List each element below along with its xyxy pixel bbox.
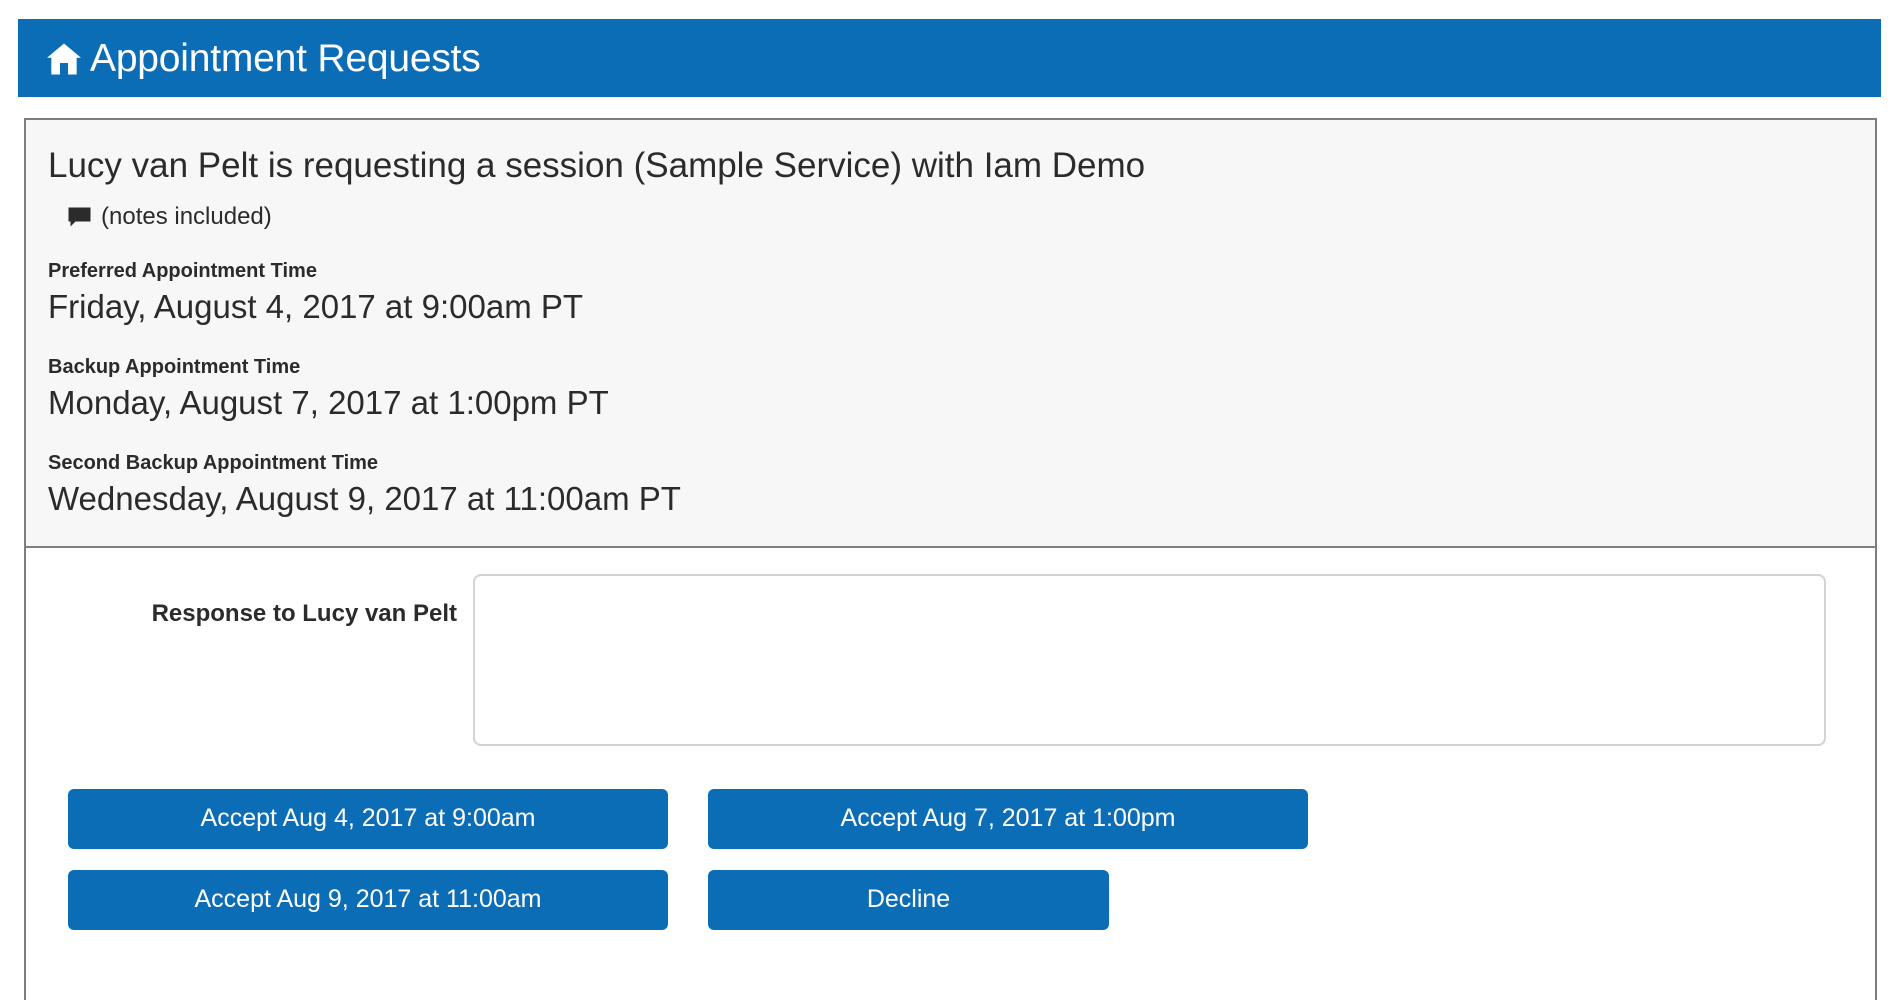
backup-time-block: Backup Appointment Time Monday, August 7… [26,355,1875,423]
accept-preferred-button[interactable]: Accept Aug 4, 2017 at 9:00am [68,789,668,849]
accept-second-backup-button[interactable]: Accept Aug 9, 2017 at 11:00am [68,870,668,930]
response-label: Response to Lucy van Pelt [26,574,473,629]
comment-icon [68,207,91,227]
page-header: Appointment Requests [18,19,1881,97]
home-icon[interactable] [44,42,84,76]
action-buttons-row-1: Accept Aug 4, 2017 at 9:00am Accept Aug … [68,789,1875,849]
response-form: Response to Lucy van Pelt Accept Aug 4, … [26,548,1875,930]
notes-included-label: (notes included) [101,205,272,229]
notes-indicator: (notes included) [26,205,1875,229]
second-backup-time-block: Second Backup Appointment Time Wednesday… [26,451,1875,519]
action-buttons: Accept Aug 4, 2017 at 9:00am Accept Aug … [26,789,1875,930]
request-details-panel: Lucy van Pelt is requesting a session (S… [26,120,1875,548]
backup-time-value: Monday, August 7, 2017 at 1:00pm PT [48,382,1875,423]
response-row: Response to Lucy van Pelt [26,574,1875,746]
second-backup-time-value: Wednesday, August 9, 2017 at 11:00am PT [48,478,1875,519]
request-summary: Lucy van Pelt is requesting a session (S… [26,144,1875,188]
decline-button[interactable]: Decline [708,870,1109,930]
page-title: Appointment Requests [90,39,481,78]
second-backup-time-label: Second Backup Appointment Time [48,451,1875,475]
appointment-requests-page: Appointment Requests Lucy van Pelt is re… [0,0,1899,1007]
appointment-request-card: Lucy van Pelt is requesting a session (S… [24,118,1877,1000]
preferred-time-label: Preferred Appointment Time [48,259,1875,283]
accept-backup-button[interactable]: Accept Aug 7, 2017 at 1:00pm [708,789,1308,849]
response-input[interactable] [473,574,1826,746]
preferred-time-value: Friday, August 4, 2017 at 9:00am PT [48,286,1875,327]
action-buttons-row-2: Accept Aug 9, 2017 at 11:00am Decline [68,870,1875,930]
preferred-time-block: Preferred Appointment Time Friday, Augus… [26,259,1875,327]
backup-time-label: Backup Appointment Time [48,355,1875,379]
